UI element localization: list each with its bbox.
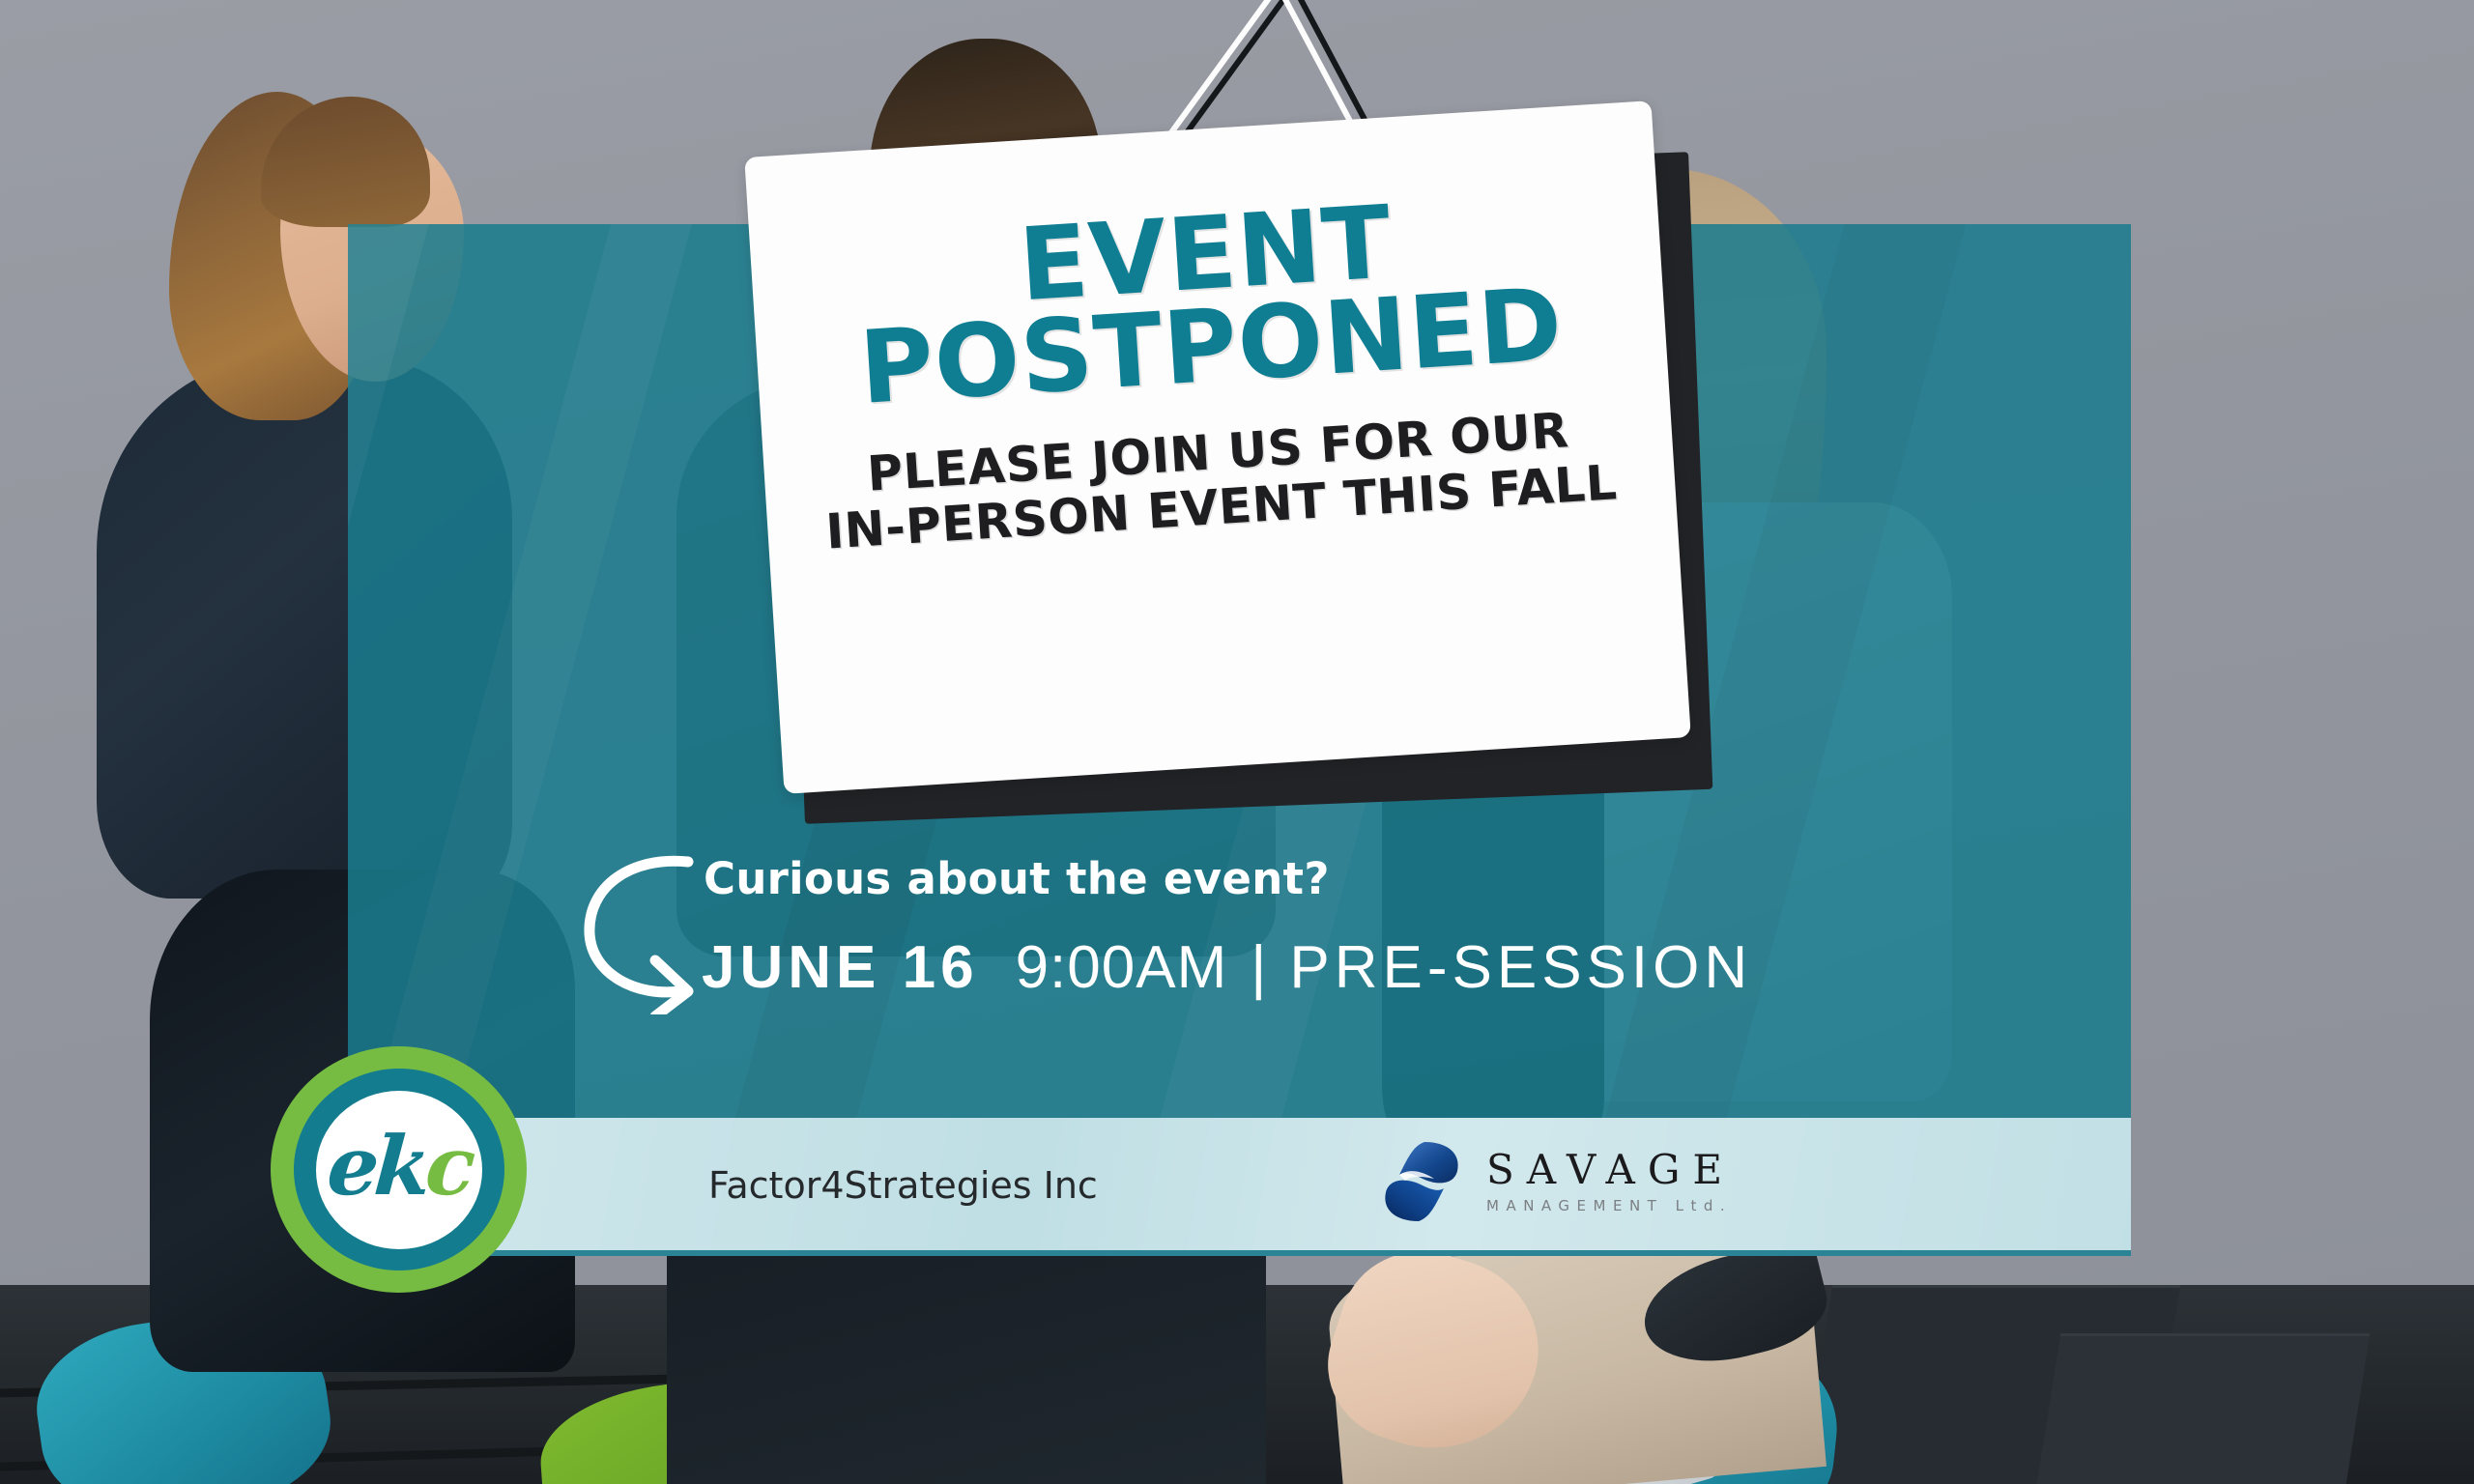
bench-step xyxy=(2037,1333,2371,1484)
ekc-logo-wordmark: ekc xyxy=(325,1126,474,1207)
savage-swirl-icon xyxy=(1380,1138,1463,1225)
ekc-logo: ekc xyxy=(271,1046,527,1293)
details-session: PRE-SESSION xyxy=(1289,933,1752,1002)
ekc-wordmark-c: c xyxy=(422,1118,474,1213)
ekc-logo-inner-ring: ekc xyxy=(294,1069,504,1270)
savage-logo-text: SAVAGE MANAGEMENT Ltd. xyxy=(1486,1150,1735,1214)
curved-arrow-icon xyxy=(580,841,705,1014)
postponed-sign: EVENT POSTPONED PLEASE JOIN US FOR OUR I… xyxy=(744,100,1691,794)
sign-subtitle: PLEASE JOIN US FOR OUR IN-PERSON EVENT T… xyxy=(820,401,1618,560)
details-time: 9:00AM xyxy=(1016,933,1228,1002)
details-date: JUNE 16 xyxy=(702,933,979,1002)
partner-name: Factor4Strategies Inc xyxy=(708,1164,1098,1207)
details-datetime-line: JUNE 16 9:00AM | PRE-SESSION xyxy=(702,933,1752,1002)
savage-logo-name: SAVAGE xyxy=(1486,1150,1735,1190)
savage-logo-tagline: MANAGEMENT Ltd. xyxy=(1486,1197,1735,1214)
details-question: Curious about the event? xyxy=(704,853,1330,904)
footer-bar xyxy=(348,1118,2131,1256)
ekc-wordmark-ek: ek xyxy=(324,1118,429,1213)
event-banner-canvas: EVENT POSTPONED PLEASE JOIN US FOR OUR I… xyxy=(0,0,2474,1484)
sign-title: EVENT POSTPONED xyxy=(851,186,1566,415)
savage-logo: SAVAGE MANAGEMENT Ltd. xyxy=(1380,1138,1735,1225)
ekc-logo-core: ekc xyxy=(316,1091,482,1249)
details-separator: | xyxy=(1251,933,1266,1002)
